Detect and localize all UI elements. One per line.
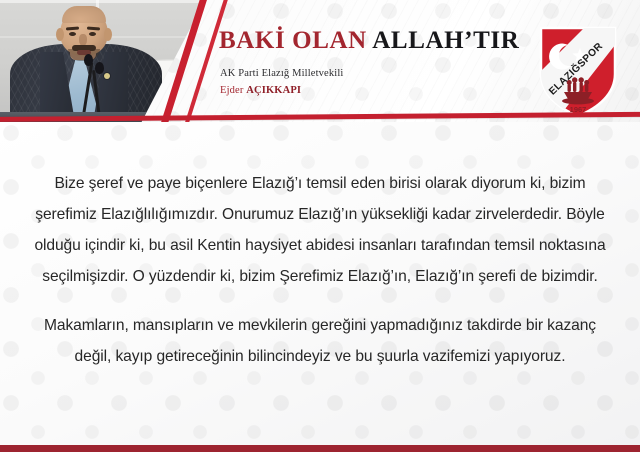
quote-paragraph-2: Makamların, mansıpların ve mevkilerin ge… — [30, 310, 610, 372]
lapel-pin — [104, 73, 110, 79]
wall-edge-top — [0, 0, 205, 3]
microphone-head-2 — [95, 62, 104, 74]
ear-left — [56, 28, 64, 41]
eye-right — [89, 32, 96, 36]
speaker-lastname: AÇIKKAPI — [246, 85, 301, 96]
speaker-firstname: Ejder — [220, 85, 246, 96]
ear-right — [104, 28, 112, 41]
photo-content: R. C — [0, 0, 205, 122]
quote-paragraph-1: Bize şeref ve paye biçenlere Elazığ’ı te… — [30, 168, 610, 292]
title-highlight: BAKİ OLAN — [219, 27, 367, 54]
quote-text: Bize şeref ve paye biçenlere Elazığ’ı te… — [30, 168, 610, 372]
page-title: BAKİ OLAN ALLAH’TIR — [219, 28, 519, 53]
speaker-name: Ejder AÇIKKAPI — [220, 85, 301, 96]
eye-left — [69, 32, 76, 36]
forehead — [62, 6, 106, 23]
elazigspor-crest: ELAZIĞSPOR 1967 — [536, 22, 620, 118]
microphone-head-1 — [84, 54, 93, 66]
poster-body: Bize şeref ve paye biçenlere Elazığ’ı te… — [0, 122, 640, 452]
poster-header: R. C — [0, 0, 640, 122]
title-rest: ALLAH’TIR — [372, 27, 519, 54]
speaker-photo: R. C — [0, 0, 205, 122]
bottom-accent-bar — [0, 445, 640, 452]
quote-poster: R. C — [0, 0, 640, 452]
speaker-role: AK Parti Elazığ Milletvekili — [220, 68, 343, 79]
